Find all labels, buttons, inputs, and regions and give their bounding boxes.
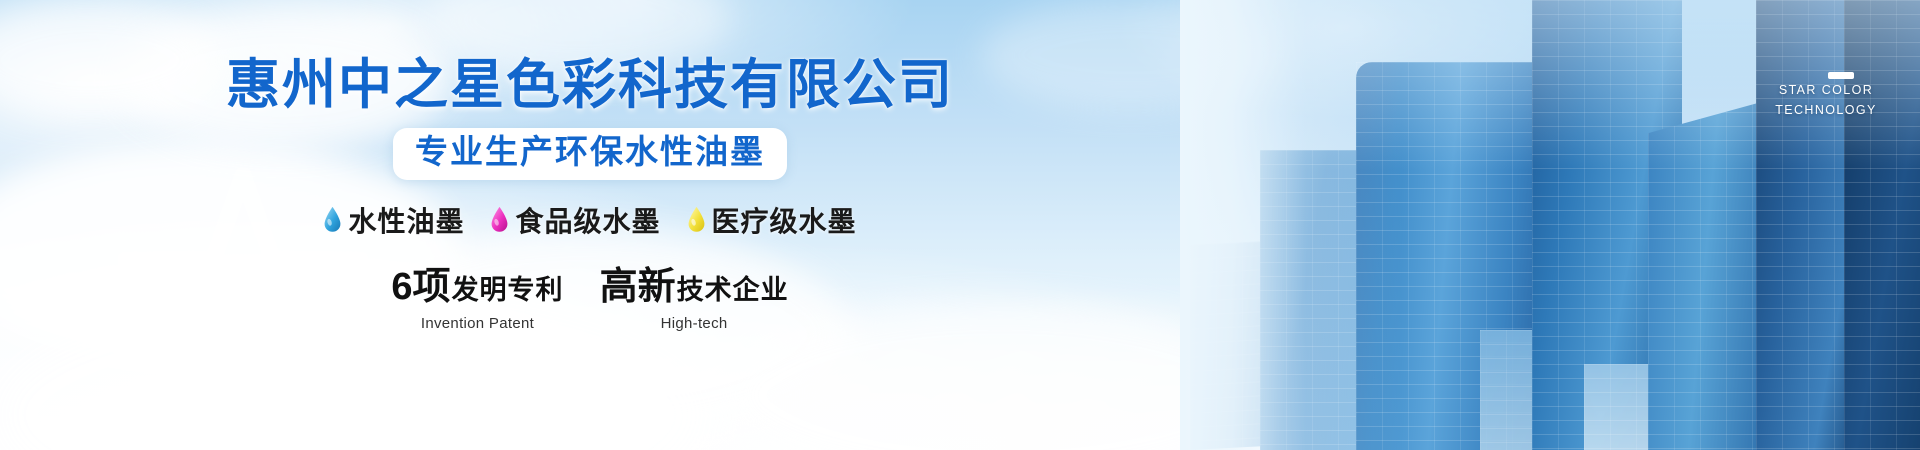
subtitle-wrapper: 专业生产环保水性油墨: [393, 128, 787, 180]
company-headline: 惠州中之星色彩科技有限公司: [226, 58, 954, 112]
logo-mark-icon: [1828, 72, 1854, 79]
credential-badge-small: 发明专利: [452, 277, 564, 304]
subtitle-pill: 专业生产环保水性油墨: [393, 128, 787, 180]
water-drop-icon: [490, 206, 509, 233]
brand-logo-text: STAR COLOR TECHNOLOGY: [1760, 80, 1892, 120]
credential-badge-line: 高新 技术企业: [600, 268, 789, 306]
water-drop-icon: [323, 206, 342, 233]
credential-badge-en: High-tech: [661, 315, 728, 332]
credential-badge-big: 高新: [600, 268, 676, 306]
credential-badge-en: Invention Patent: [421, 315, 534, 332]
credential-badge-small: 技术企业: [677, 277, 789, 304]
feature-label: 食品级水墨: [515, 200, 660, 240]
credential-badge: 6项 发明专利 Invention Patent: [391, 268, 563, 332]
feature-label: 水性油墨: [348, 200, 464, 240]
feature-item: 水性油墨: [323, 200, 464, 240]
feature-item: 医疗级水墨: [687, 200, 857, 240]
feature-item: 食品级水墨: [490, 200, 660, 240]
credential-badge: 高新 技术企业 High-tech: [600, 268, 789, 332]
banner-copy-block: 惠州中之星色彩科技有限公司 专业生产环保水性油墨 水性油墨: [0, 0, 1180, 450]
feature-list: 水性油墨 食品级水墨: [323, 200, 856, 240]
company-hero-banner: Star Color STAR COLOR TECHNOLOGY 惠州中之星色彩…: [0, 0, 1920, 450]
brand-logo-line1: STAR COLOR: [1760, 80, 1892, 100]
water-drop-icon: [687, 206, 706, 233]
credential-badges: 6项 发明专利 Invention Patent 高新 技术企业 High-te…: [391, 268, 788, 332]
brand-logo-line2: TECHNOLOGY: [1760, 100, 1892, 120]
skyline-illustration: [1180, 0, 1920, 450]
feature-label: 医疗级水墨: [712, 200, 857, 240]
building-shape: [1844, 0, 1920, 450]
credential-badge-big: 6项: [391, 268, 450, 306]
credential-badge-line: 6项 发明专利: [391, 268, 563, 306]
